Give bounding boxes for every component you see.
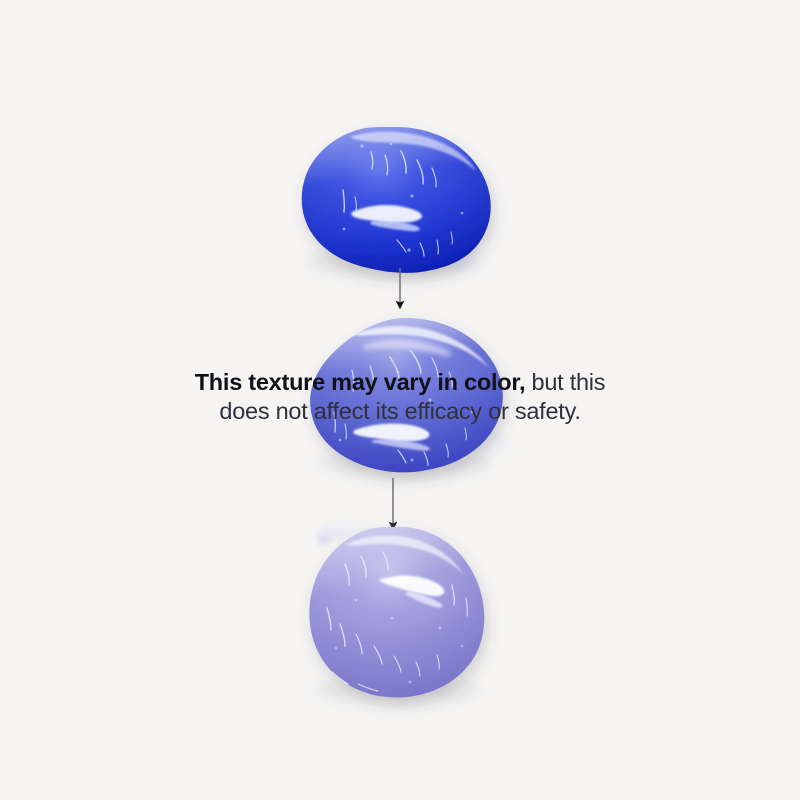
- blob-top-group: [302, 127, 501, 278]
- blob-bottom-group: [309, 520, 484, 705]
- gel-texture-illustration: [0, 0, 800, 800]
- blob-middle-group: [310, 318, 521, 478]
- infographic-canvas: This texture may vary in color, but this…: [0, 0, 800, 800]
